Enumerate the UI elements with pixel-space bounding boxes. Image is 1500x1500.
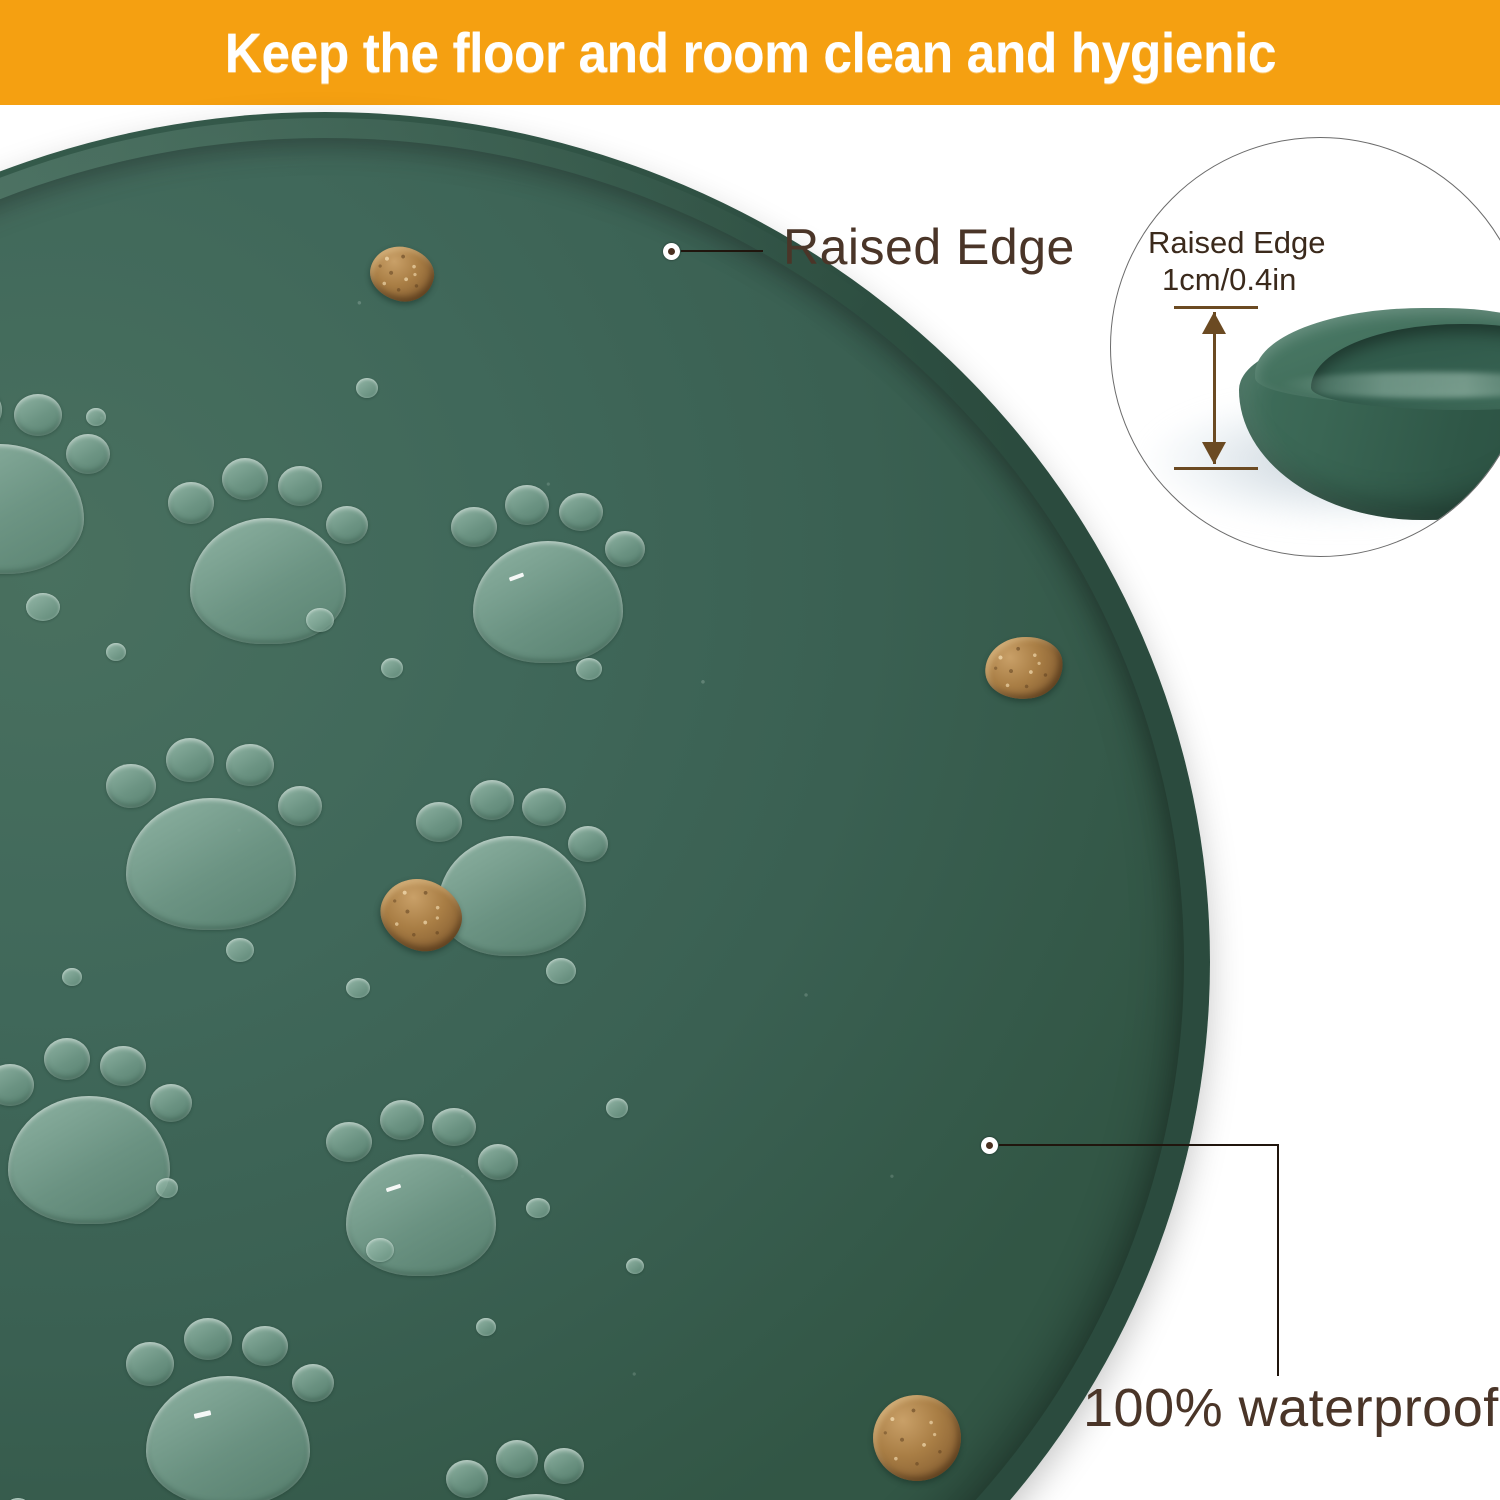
product-photo-tray: [0, 112, 1210, 1500]
water-droplet: [26, 593, 60, 621]
callout-label-raised-edge: Raised Edge: [783, 218, 1075, 276]
inset-title: Raised Edge: [1148, 224, 1326, 261]
water-droplet: [546, 958, 576, 984]
callout-leader-waterproof-horizontal: [999, 1144, 1279, 1146]
water-droplet: [356, 378, 378, 398]
water-droplet: [381, 658, 403, 678]
dimension-arrowhead-up: [1202, 312, 1226, 334]
inset-measurement-value: 1cm/0.4in: [1148, 261, 1326, 298]
water-droplet: [526, 1198, 550, 1218]
inset-rim-cross-section: [1239, 306, 1500, 536]
infographic-canvas: Keep the floor and room clean and hygien…: [0, 0, 1500, 1500]
header-banner: Keep the floor and room clean and hygien…: [0, 0, 1500, 105]
water-droplet: [62, 968, 82, 986]
water-droplet: [306, 608, 334, 632]
inset-measurement-text: Raised Edge 1cm/0.4in: [1148, 224, 1326, 298]
callout-marker-waterproof: [981, 1137, 998, 1154]
water-droplet: [346, 978, 370, 998]
callout-label-waterproof: 100% waterproof: [1083, 1377, 1499, 1439]
inset-detail-circle: [1110, 137, 1500, 557]
water-droplet: [606, 1098, 628, 1118]
water-droplets-group: [0, 138, 1184, 1500]
water-droplet: [626, 1258, 644, 1274]
water-droplet: [366, 1238, 394, 1262]
water-droplet: [226, 938, 254, 962]
callout-marker-raised-edge: [663, 243, 680, 260]
kibble-piece: [873, 1395, 961, 1481]
water-droplet: [86, 408, 106, 426]
water-droplet: [476, 1318, 496, 1336]
water-droplet: [576, 658, 602, 680]
callout-leader-waterproof-vertical: [1277, 1144, 1279, 1376]
banner-headline: Keep the floor and room clean and hygien…: [224, 20, 1275, 85]
water-droplet: [106, 643, 126, 661]
dimension-arrowhead-down: [1202, 442, 1226, 464]
callout-leader-raised-edge: [681, 250, 763, 252]
dimension-arrow: [1174, 306, 1258, 470]
dimension-tick-top: [1174, 306, 1258, 309]
dimension-tick-bottom: [1174, 467, 1258, 470]
water-droplet: [156, 1178, 178, 1198]
